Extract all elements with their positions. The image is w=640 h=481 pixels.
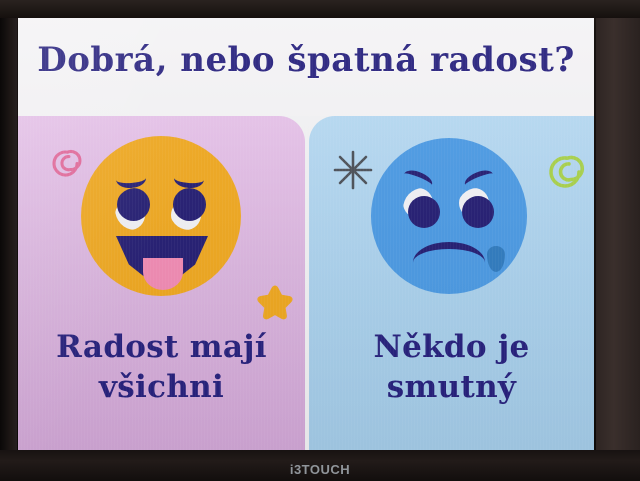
happy-tongue [143,258,183,290]
eye-pupil [408,196,440,228]
caption-happy-line-2: všichni [18,368,305,408]
pink-spiral-icon [46,146,86,186]
caption-sad-line-2: smutný [309,368,594,408]
caption-happy-line-1: Radost mají [18,328,305,368]
monitor-bezel-top [0,0,640,18]
caption-happy: Radost mají všichni [18,328,305,407]
slide-title-band: Dobrá, nebo špatná radost? [18,18,594,116]
caption-sad-line-1: Někdo je [309,328,594,368]
background-wall-left [0,0,17,481]
card-sad[interactable]: Někdo je smutný [309,116,594,450]
interactive-display-monitor: Dobrá, nebo špatná radost? [0,0,640,481]
eye-pupil [173,188,206,221]
happy-face-area [18,122,305,318]
happy-eye-left [115,188,155,230]
sad-face-area [309,122,594,318]
background-wall-right [596,0,640,481]
monitor-bezel-bottom: i3TOUCH [0,450,640,481]
caption-sad: Někdo je smutný [309,328,594,407]
happy-eyebrow-left [115,169,146,189]
sad-eye-right [457,188,497,230]
slide-title: Dobrá, nebo špatná radost? [18,40,594,80]
teardrop-icon [487,246,505,272]
orange-star-icon [251,280,299,328]
eye-pupil [117,188,150,221]
asterisk-sparkle-icon [331,148,375,192]
green-spiral-icon [541,150,589,198]
sad-eye-left [403,188,443,230]
slide-card-row: Radost mají všichni [18,116,594,450]
sad-mouth [413,242,485,283]
card-happy[interactable]: Radost mají všichni [18,116,305,450]
happy-eye-right [169,188,209,230]
happy-eyebrow-right [173,169,204,189]
eye-pupil [462,196,494,228]
smiling-face [81,136,241,296]
crying-face [371,138,527,294]
display-screen[interactable]: Dobrá, nebo špatná radost? [18,18,594,450]
device-brand-logo: i3TOUCH [0,462,640,477]
